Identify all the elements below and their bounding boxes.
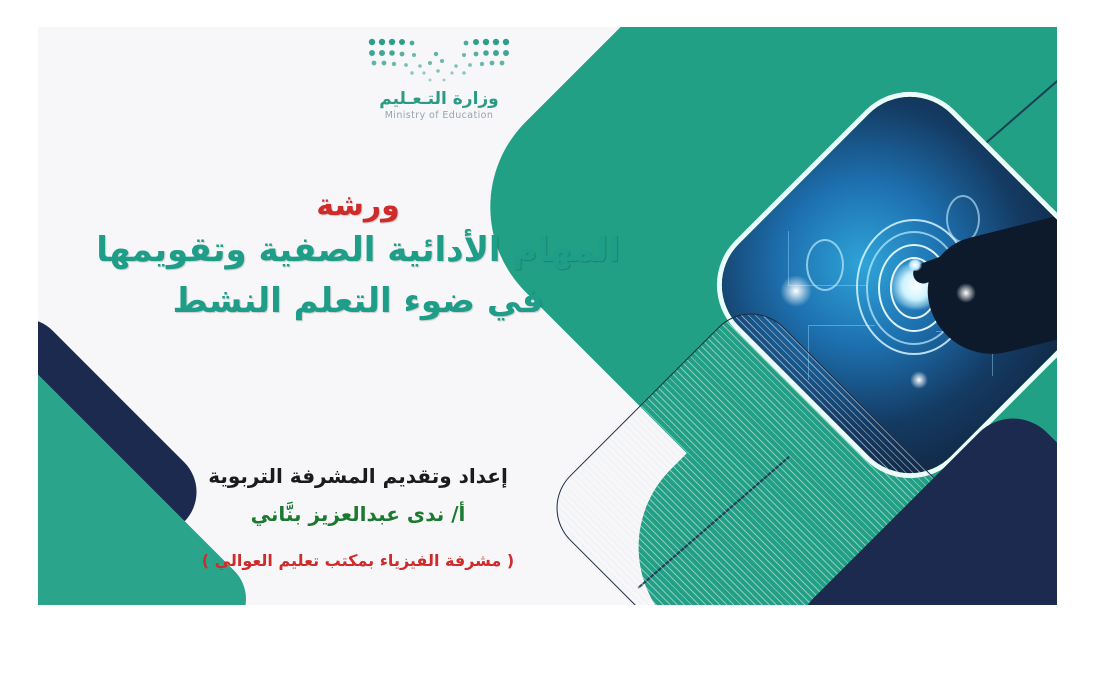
logo-arabic-text: وزارة التـعـليم [324,89,554,109]
hud-ring-icon [806,239,844,291]
fingertip-glow [908,259,922,271]
title-kicker: ورشة [58,187,658,225]
logo-english-text: Ministry of Education [324,110,554,121]
light-spark [956,283,976,303]
slide-canvas: وزارة التـعـليم Ministry of Education ور… [0,0,1095,697]
presenter-role: ( مشرفة الفيزياء بمكتب تعليم العوالي ) [58,547,658,576]
title-block: ورشة المهام الأدائية الصفية وتقويمها في … [58,187,658,327]
title-line-2: في ضوء التعلم النشط [58,276,658,327]
light-spark [780,275,812,307]
title-line-1: المهام الأدائية الصفية وتقويمها [58,225,658,276]
light-spark [910,371,928,389]
ministry-of-education-logo: وزارة التـعـليم Ministry of Education [324,35,554,140]
prepared-by-label: إعداد وتقديم المشرفة التربوية [58,457,658,495]
presenter-name: أ/ ندى عبدالعزيز بنَّاني [58,495,658,533]
presentation-slide: وزارة التـعـليم Ministry of Education ور… [38,27,1057,605]
saudi-ministry-of-education-dots-logo [364,35,514,87]
credits-block: إعداد وتقديم المشرفة التربوية أ/ ندى عبد… [58,457,658,576]
